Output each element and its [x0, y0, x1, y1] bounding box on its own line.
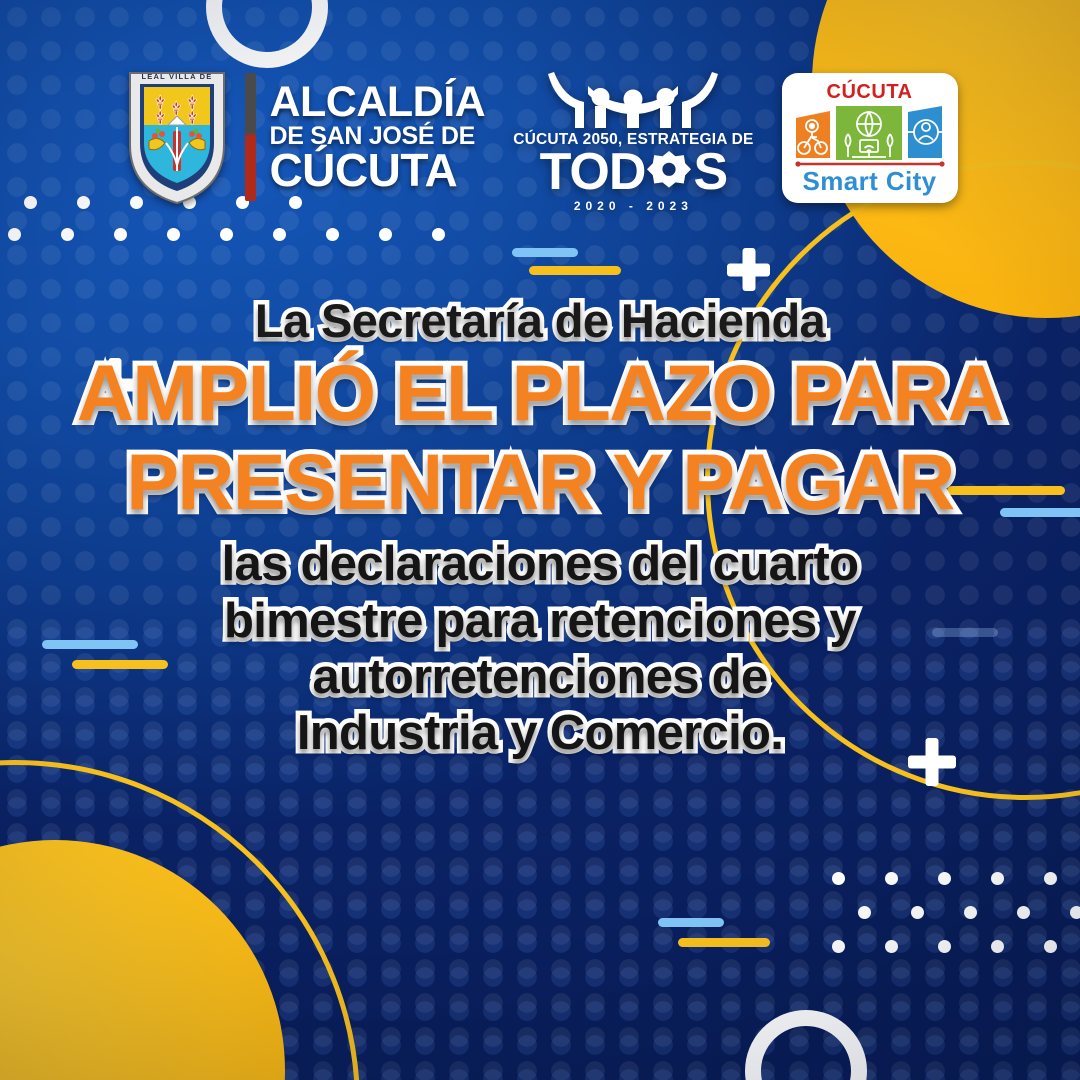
todos-wordmark: TOD S: [540, 149, 728, 197]
logo-todos-cucuta-2050: CÚCUTA 2050, ESTRATEGIA DE TOD S 2020 - …: [513, 66, 753, 213]
poster-canvas: LEAL VILLA DE ALCALDÍA DE SAN JOSÉ DE CÚ…: [0, 0, 1080, 1080]
todos-years: 2020 - 2023: [574, 199, 693, 213]
message-body-line: las declaraciones del cuarto: [0, 536, 1080, 592]
message-headline-line-1: AMPLIÓ EL PLAZO PARA: [0, 350, 1080, 435]
todos-flower-icon: [646, 150, 692, 196]
coat-of-arms-icon: LEAL VILLA DE: [122, 67, 232, 207]
todos-word-left: TOD: [540, 149, 646, 197]
alcaldia-line-1: ALCALDÍA: [269, 83, 485, 123]
three-figures-icon: [548, 66, 718, 128]
logo-bar: LEAL VILLA DE ALCALDÍA DE SAN JOSÉ DE CÚ…: [0, 62, 1080, 213]
message-body: las declaraciones del cuarto bimestre pa…: [0, 536, 1080, 761]
message-block: La Secretaría de Hacienda AMPLIÓ EL PLAZ…: [0, 296, 1080, 762]
smart-city-bottom-label: Smart City: [803, 168, 937, 194]
message-body-line: Industria y Comercio.: [0, 705, 1080, 761]
alcaldia-line-3: CÚCUTA: [269, 149, 485, 191]
message-body-line: autorretenciones de: [0, 649, 1080, 705]
todos-word-right: S: [693, 149, 727, 197]
message-body-line: bimestre para retenciones y: [0, 593, 1080, 649]
smart-city-panels-icon: [790, 96, 950, 168]
message-headline-line-2: PRESENTAR Y PAGAR: [0, 439, 1080, 524]
logo-divider-bar: [245, 73, 256, 201]
message-kicker: La Secretaría de Hacienda: [0, 296, 1080, 346]
logo-alcaldia-cucuta: LEAL VILLA DE ALCALDÍA DE SAN JOSÉ DE CÚ…: [122, 67, 485, 207]
smart-city-top-label: CÚCUTA: [827, 82, 913, 102]
svg-text:LEAL VILLA DE: LEAL VILLA DE: [142, 72, 213, 81]
logo-cucuta-smart-city: CÚCUTA: [782, 73, 958, 203]
